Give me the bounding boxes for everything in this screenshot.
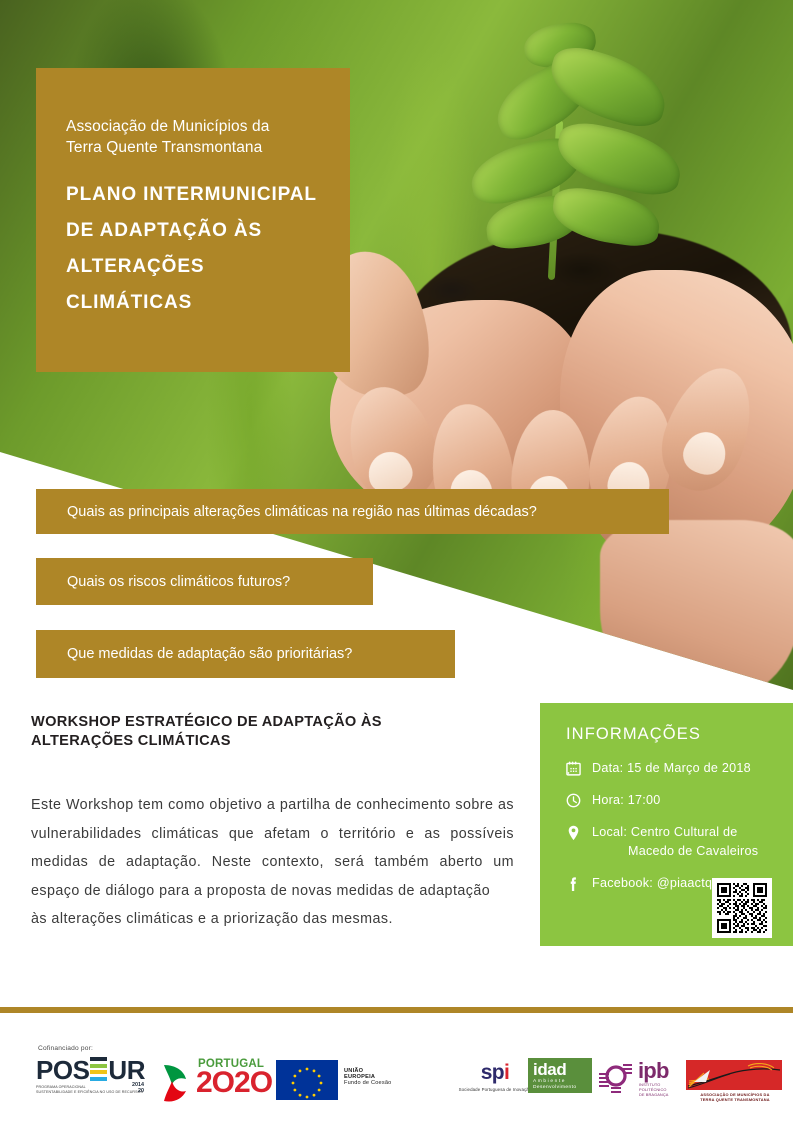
info-row-date: Data: 15 de Março de 2018 (566, 760, 793, 776)
title-line-2: DE ADAPTAÇÃO ÀS (66, 213, 324, 249)
spi-logo: spi Sociedade Portuguesa de Inovação (450, 1062, 540, 1092)
clock-icon (566, 792, 592, 808)
title-line-4: CLIMÁTICAS (66, 285, 324, 321)
ipb-wordmark: ipb (638, 1060, 669, 1082)
map-pin-icon (566, 824, 592, 841)
gold-divider (0, 1007, 793, 1013)
info-row-place: Local: Centro Cultural de Macedo de Cava… (566, 824, 793, 859)
workshop-heading-line-1: WORKSHOP ESTRATÉGICO DE ADAPTAÇÃO ÀS (31, 713, 513, 732)
eu-label-line-2: Fundo de Coesão (344, 1080, 391, 1086)
cofinance-label: Cofinanciado por: (38, 1045, 93, 1052)
facebook-handle: @piaactqt (657, 876, 716, 890)
portugal-2020-number: 2O2O (196, 1068, 272, 1098)
amtqt-subtitle-2: TERRA QUENTE TRANSMONTANA (686, 1097, 784, 1102)
poseur-e-bars-icon (90, 1057, 107, 1083)
time-value: 17:00 (628, 793, 661, 807)
eu-label-line-1: UNIÃO EUROPEIA (344, 1068, 394, 1080)
portugal-flag-icon (160, 1063, 198, 1103)
spi-wordmark: spi (481, 1062, 510, 1083)
spi-subtitle: Sociedade Portuguesa de Inovação (450, 1087, 540, 1092)
amtqt-logo: ASSOCIAÇÃO DE MUNICÍPIOS DA TERRA QUENTE… (686, 1060, 784, 1102)
workshop-heading-line-2: ALTERAÇÕES CLIMÁTICAS (31, 732, 513, 751)
poseur-ur: UR (108, 1057, 145, 1083)
place-value-line-2: Macedo de Cavaleiros (592, 843, 758, 859)
spi-sp: sp (481, 1061, 504, 1084)
association-line-1: Associação de Municípios da (66, 116, 324, 137)
wrist (600, 520, 793, 700)
spi-i: i (504, 1061, 509, 1084)
title-line-1: PLANO INTERMUNICIPAL (66, 177, 324, 213)
idad-logo: idad Ambiente Desenvolvimento (528, 1058, 592, 1093)
info-panel-title: INFORMAÇÕES (566, 725, 793, 744)
workshop-body-last-line: às alterações climáticas e a priorização… (31, 905, 514, 934)
qr-code[interactable] (712, 878, 772, 938)
time-label: Hora: (592, 793, 624, 807)
association-line-2: Terra Quente Transmontana (66, 137, 324, 158)
idad-subtitle-2: Desenvolvimento (533, 1085, 587, 1091)
information-panel: INFORMAÇÕES Data: 15 de Março de 2018 (540, 703, 793, 946)
question-banner-1: Quais as principais alterações climática… (36, 489, 669, 534)
workshop-body: Este Workshop tem como objetivo a partil… (31, 791, 514, 934)
ipb-subtitle-1: INSTITUTO POLITÉCNICO (639, 1082, 688, 1092)
ipb-subtitle-2: DE BRAGANÇA (639, 1092, 688, 1097)
ipb-emblem-icon (596, 1060, 636, 1096)
facebook-icon[interactable] (566, 875, 592, 892)
poseur-pos: POS (36, 1057, 89, 1083)
workshop-body-text: Este Workshop tem como objetivo a partil… (31, 797, 514, 899)
eu-logo: UNIÃO EUROPEIA Fundo de Coesão (276, 1060, 394, 1100)
footer-logos: Cofinanciado por: POS UR PROGRAMA OPERAC… (0, 1040, 793, 1118)
place-label: Local: (592, 825, 627, 839)
amtqt-emblem-icon (686, 1060, 782, 1090)
title-line-3: ALTERAÇÕES (66, 249, 324, 285)
title-block: Associação de Municípios da Terra Quente… (36, 68, 350, 372)
idad-wordmark: idad (533, 1061, 587, 1078)
poseur-year: 2014 20 (132, 1082, 144, 1094)
eu-flag-icon (276, 1060, 338, 1100)
poseur-year-2: 20 (132, 1088, 144, 1094)
date-value: 15 de Março de 2018 (627, 761, 751, 775)
association-name: Associação de Municípios da Terra Quente… (66, 116, 324, 158)
question-banner-3: Que medidas de adaptação são prioritária… (36, 630, 455, 678)
info-row-time: Hora: 17:00 (566, 792, 793, 808)
date-label: Data: (592, 761, 623, 775)
facebook-label: Facebook: (592, 876, 653, 890)
page-title: PLANO INTERMUNICIPAL DE ADAPTAÇÃO ÀS ALT… (66, 177, 324, 321)
calendar-icon (566, 760, 592, 776)
workshop-heading: WORKSHOP ESTRATÉGICO DE ADAPTAÇÃO ÀS ALT… (31, 713, 513, 751)
question-banner-2: Quais os riscos climáticos futuros? (36, 558, 373, 605)
qr-code-image (717, 883, 767, 933)
portugal2020-logo: PORTUGAL 2O2O (160, 1056, 282, 1106)
place-value-line-1: Centro Cultural de (631, 825, 738, 839)
